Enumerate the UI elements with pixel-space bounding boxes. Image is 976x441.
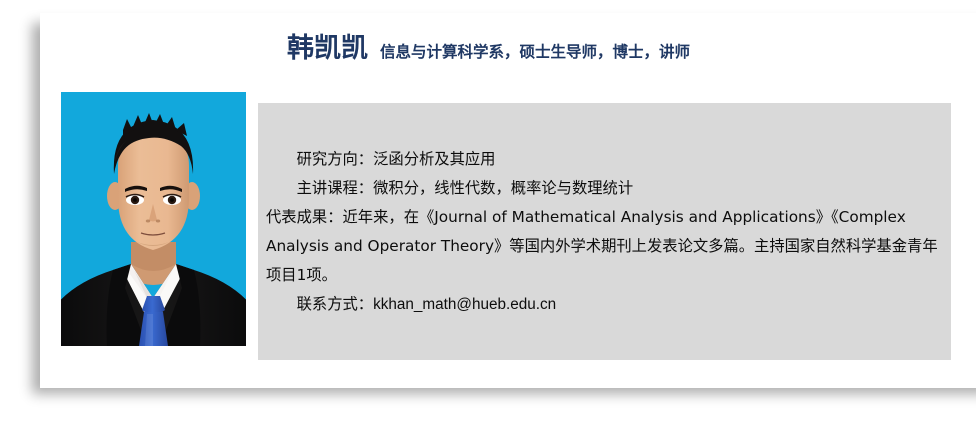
- profile-header: 韩凯凯 信息与计算科学系，硕士生导师，博士，讲师: [40, 13, 976, 81]
- page-root: 韩凯凯 信息与计算科学系，硕士生导师，博士，讲师: [0, 0, 976, 441]
- detail-achievements: 代表成果：近年来，在《Journal of Mathematical Analy…: [266, 203, 944, 290]
- professor-name: 韩凯凯: [287, 35, 368, 62]
- detail-label-contact: 联系方式：: [297, 295, 374, 313]
- detail-contact: 联系方式：kkhan_math@hueb.edu.cn: [266, 290, 944, 319]
- profile-card: 韩凯凯 信息与计算科学系，硕士生导师，博士，讲师: [40, 13, 976, 388]
- portrait-illustration: [61, 92, 246, 346]
- detail-value-contact-email[interactable]: kkhan_math@hueb.edu.cn: [373, 296, 556, 313]
- info-panel: 研究方向：泛函分析及其应用 主讲课程：微积分，线性代数，概率论与数理统计 代表成…: [258, 103, 951, 360]
- profile-header-inner: 韩凯凯 信息与计算科学系，硕士生导师，博士，讲师: [287, 35, 690, 62]
- detail-value-achievements: 近年来，在《Journal of Mathematical Analysis a…: [266, 208, 938, 284]
- detail-label-courses: 主讲课程：: [297, 179, 374, 197]
- professor-titles: 信息与计算科学系，硕士生导师，博士，讲师: [380, 45, 690, 61]
- info-text-block: 研究方向：泛函分析及其应用 主讲课程：微积分，线性代数，概率论与数理统计 代表成…: [266, 145, 944, 319]
- detail-value-research-direction: 泛函分析及其应用: [373, 150, 495, 168]
- detail-courses: 主讲课程：微积分，线性代数，概率论与数理统计: [266, 174, 944, 203]
- detail-research-direction: 研究方向：泛函分析及其应用: [266, 145, 944, 174]
- detail-label-research-direction: 研究方向：: [297, 150, 374, 168]
- detail-label-achievements: 代表成果：: [266, 208, 343, 226]
- professor-photo: [61, 92, 246, 346]
- detail-value-courses: 微积分，线性代数，概率论与数理统计: [373, 179, 633, 197]
